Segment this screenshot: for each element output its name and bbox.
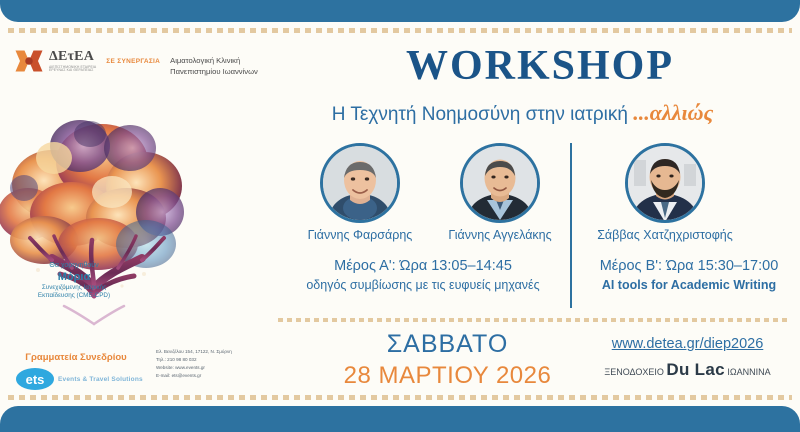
bottom-blue-band (0, 406, 800, 432)
contact-phone: Τηλ.: 210 98 80 032 (156, 356, 232, 364)
bottom-dotted-divider (8, 395, 792, 400)
top-blue-band (0, 0, 800, 22)
avatar (625, 143, 705, 223)
avatar (320, 143, 400, 223)
session-b-description: AI tools for Academic Writing (578, 278, 800, 292)
cme-line-3: Συνεχιζόμενης Ιατρικής Εκπαίδευσης (CME-… (28, 284, 120, 300)
header-logos: ΔΕτΕΑ ΔΙΕΠΙΣΤΗΜΟΝΙΚΗ ΕΤΑΙΡΕΙΑ ΕΡΕΥΝΑΣ ΚΑ… (14, 48, 258, 77)
cme-credits-badge: Θα χορηγηθούν Μόρια Συνεχιζόμενης Ιατρικ… (28, 262, 120, 328)
ets-logo-icon: ets (16, 368, 54, 390)
speaker-card-3: Σάββας Χατζηχριστοφής (590, 143, 740, 242)
secretariat-contact: Ελ. Βενιζέλου 154, 17122, Ν. Σμύρνη Τηλ.… (156, 348, 232, 380)
avatar (460, 143, 540, 223)
collaboration-label: ΣΕ ΣΥΝΕΡΓΑΣΙΑ (106, 58, 160, 65)
venue-city: ΙΩΑΝΝΙΝΑ (727, 367, 770, 377)
subtitle-main: Η Τεχνητή Νοημοσύνη στην ιατρική (332, 104, 628, 125)
event-date: 28 ΜΑΡΤΙΟΥ 2026 (340, 362, 555, 390)
event-link-block: www.detea.gr/diep2026 ΞΕΝΟΔΟΧΕΙΟ Du Lac … (575, 336, 800, 380)
partner-line-1: Αιματολογική Κλινική (170, 55, 258, 66)
detea-logo: ΔΕτΕΑ ΔΙΕΠΙΣΤΗΜΟΝΙΚΗ ΕΤΑΙΡΕΙΑ ΕΡΕΥΝΑΣ ΚΑ… (14, 48, 96, 74)
secretariat-title: Γραμματεία Συνεδρίου (16, 352, 136, 363)
cme-line-1: Θα χορηγηθούν (28, 262, 120, 271)
detea-mark-icon (14, 48, 44, 74)
venue-prefix: ΞΕΝΟΔΟΧΕΙΟ (604, 367, 664, 377)
venue-name: Du Lac (666, 360, 724, 379)
cme-line-2: Μόρια (28, 271, 120, 284)
speaker-name-1: Γιάννης Φαρσάρης (285, 228, 435, 242)
event-date-block: ΣΑΒΒΑΤΟ 28 ΜΑΡΤΙΟΥ 2026 (340, 330, 555, 390)
speaker-photo-1 (323, 146, 397, 220)
contact-email: E-mail: ets@events.gr (156, 372, 232, 380)
session-a-description: οδηγός συμβίωσης με τις ευφυείς μηχανές (278, 278, 568, 292)
session-a-time: Μέρος Α': Ώρα 13:05–14:45 (278, 258, 568, 274)
contact-website: Website: www.events.gr (156, 364, 232, 372)
speaker-card-1: Γιάννης Φαρσάρης (285, 143, 435, 242)
detea-subtitle: ΔΙΕΠΙΣΤΗΜΟΝΙΚΗ ΕΤΑΙΡΕΙΑ ΕΡΕΥΝΑΣ ΚΑΙ ΘΕΡΑ… (49, 66, 96, 73)
svg-text:ets: ets (26, 372, 45, 387)
speaker-photo-2 (463, 146, 537, 220)
speaker-name-3: Σάββας Χατζηχριστοφής (590, 228, 740, 242)
session-b-time: Μέρος Β': Ώρα 15:30–17:00 (578, 258, 800, 274)
event-url-link[interactable]: www.detea.gr/diep2026 (575, 336, 800, 352)
ets-tagline: Events & Travel Solutions (58, 376, 143, 383)
top-dotted-divider (8, 28, 792, 33)
session-part-a: Μέρος Α': Ώρα 13:05–14:45 οδηγός συμβίωσ… (278, 258, 568, 292)
speakers-row: Γιάννης Φαρσάρης Γιάννης Αγγελάκης (285, 143, 800, 253)
page-subtitle: Η Τεχνητή Νοημοσύνη στην ιατρική ...αλλι… (250, 100, 795, 126)
event-venue: ΞΕΝΟΔΟΧΕΙΟ Du Lac ΙΩΑΝΝΙΝΑ (575, 360, 800, 380)
subtitle-accent: ...αλλιώς (633, 100, 713, 125)
contact-address: Ελ. Βενιζέλου 154, 17122, Ν. Σμύρνη (156, 348, 232, 356)
detea-subtitle-line2: ΕΡΕΥΝΑΣ ΚΑΙ ΘΕΡΑΠΕΙΑΣ (49, 69, 96, 72)
event-day: ΣΑΒΒΑΤΟ (340, 330, 555, 359)
ets-logo: ets Events & Travel Solutions (16, 368, 136, 390)
detea-name: ΔΕτΕΑ (49, 50, 96, 64)
session-part-b: Μέρος Β': Ώρα 15:30–17:00 AI tools for A… (578, 258, 800, 292)
page-title: WORKSHOP (300, 42, 780, 90)
speaker-card-2: Γιάννης Αγγελάκης (425, 143, 575, 242)
secretariat-block: Γραμματεία Συνεδρίου ets Events & Travel… (16, 352, 136, 390)
workshop-poster: ΔΕτΕΑ ΔΙΕΠΙΣΤΗΜΟΝΙΚΗ ΕΤΑΙΡΕΙΑ ΕΡΕΥΝΑΣ ΚΑ… (0, 0, 800, 432)
mid-dotted-divider (278, 318, 788, 322)
partner-line-2: Πανεπιστημίου Ιωαννίνων (170, 66, 258, 77)
partner-institution: Αιματολογική Κλινική Πανεπιστημίου Ιωανν… (170, 55, 258, 77)
speaker-photo-3 (628, 146, 702, 220)
speaker-name-2: Γιάννης Αγγελάκης (425, 228, 575, 242)
